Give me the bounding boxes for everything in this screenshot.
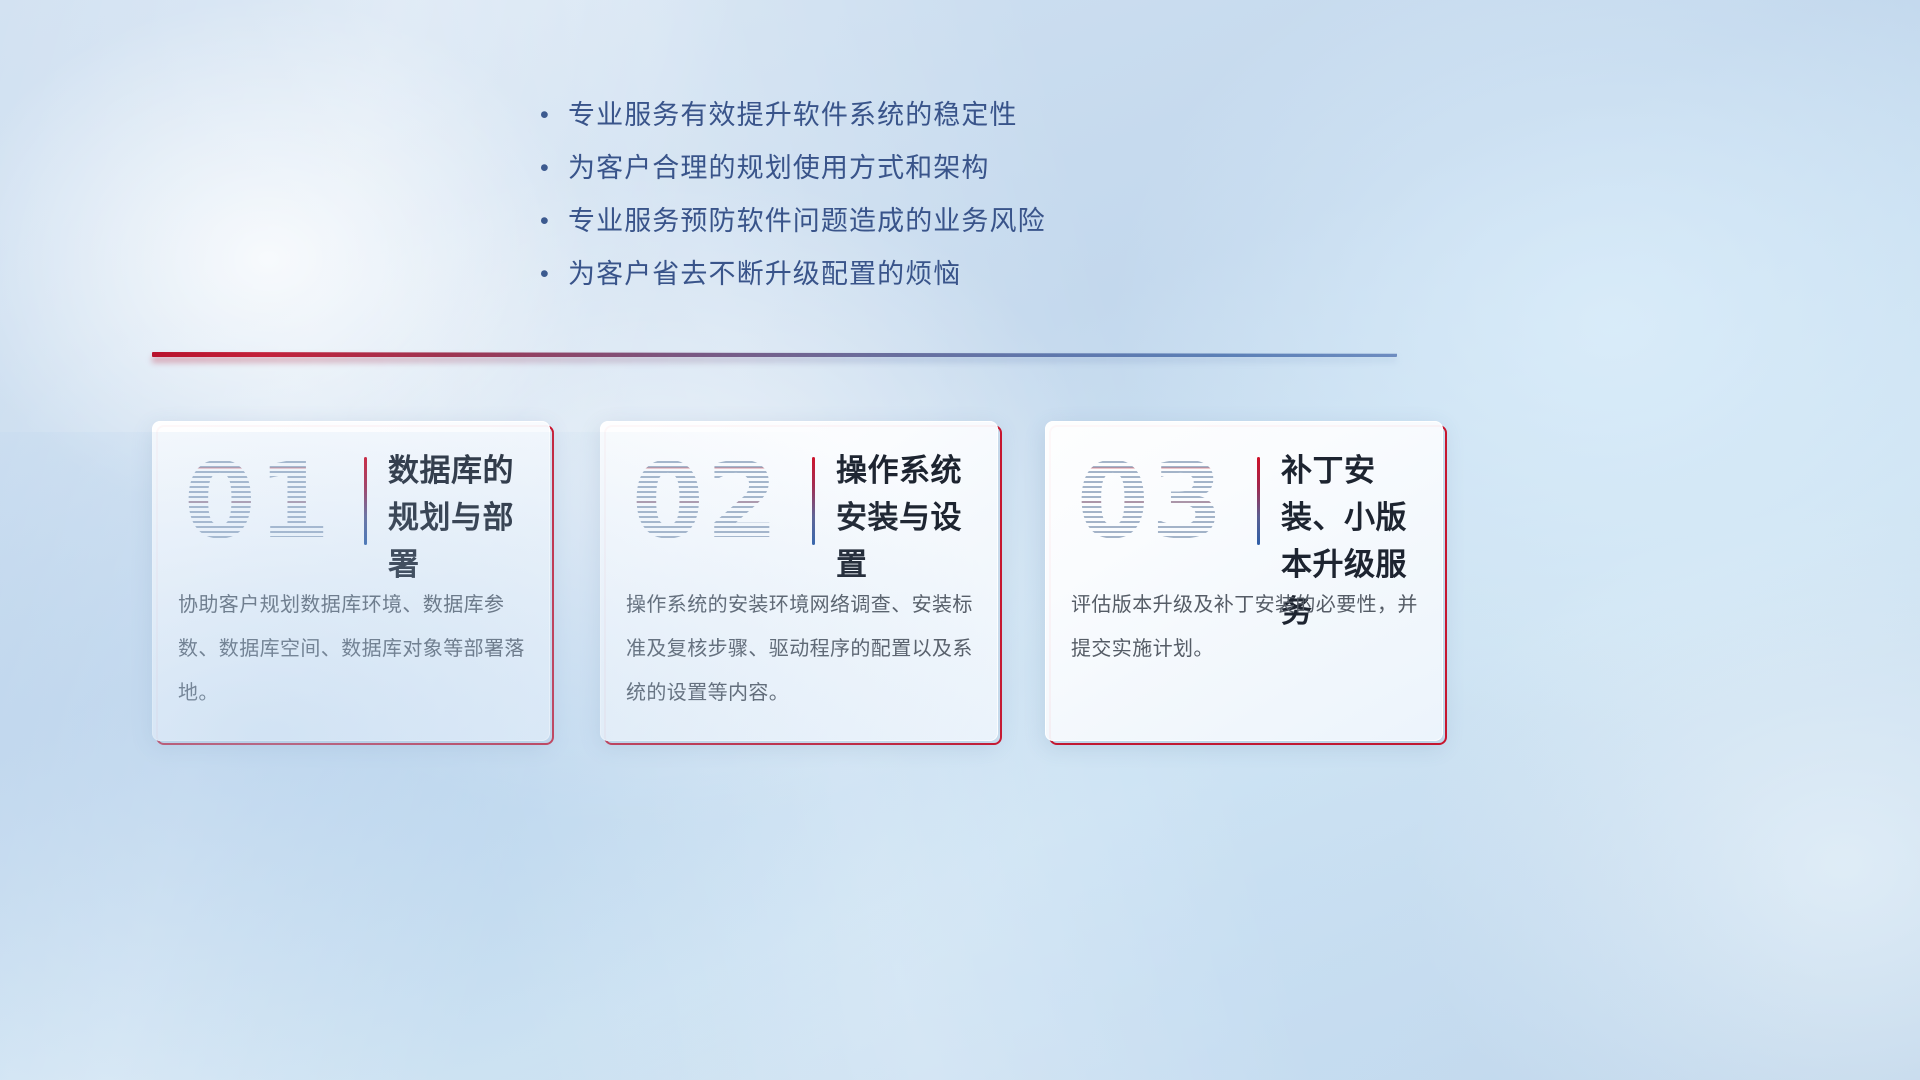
service-card-03[interactable]: 03 03 补丁安装、小版本升级服务 评估版本升级及补丁安装的必要性，并提交实施… xyxy=(1045,421,1443,741)
divider-bar xyxy=(152,352,1397,357)
bullet-dot-icon: • xyxy=(540,198,568,244)
list-item: • 专业服务预防软件问题造成的业务风险 xyxy=(540,198,1300,251)
bullet-dot-icon: • xyxy=(540,92,568,138)
bullet-dot-icon: • xyxy=(540,251,568,297)
slide-canvas: • 专业服务有效提升软件系统的稳定性 • 为客户合理的规划使用方式和架构 • 专… xyxy=(0,0,1920,1080)
card-body-text: 操作系统的安装环境网络调查、安装标准及复核步骤、驱动程序的配置以及系统的设置等内… xyxy=(626,583,976,715)
card-surface: 01 01 数据库的规划与部署 协助客户规划数据库环境、数据库参数、数据库空间、… xyxy=(152,421,550,741)
card-number-watermark: 03 xyxy=(1061,441,1241,563)
card-body-text: 协助客户规划数据库环境、数据库参数、数据库空间、数据库对象等部署落地。 xyxy=(178,583,528,715)
list-item: • 专业服务有效提升软件系统的稳定性 xyxy=(540,92,1300,145)
bullet-dot-icon: • xyxy=(540,145,568,191)
service-card-group: 01 01 数据库的规划与部署 协助客户规划数据库环境、数据库参数、数据库空间、… xyxy=(152,421,1450,741)
section-divider xyxy=(152,348,1397,362)
service-card-02[interactable]: 02 02 操作系统安装与设置 操作系统的安装环境网络调查、安装标准及复核步骤、… xyxy=(600,421,998,741)
card-header: 01 01 数据库的规划与部署 xyxy=(152,439,550,571)
bullet-text: 为客户合理的规划使用方式和架构 xyxy=(568,145,990,191)
list-item: • 为客户省去不断升级配置的烦恼 xyxy=(540,251,1300,304)
card-header: 02 02 操作系统安装与设置 xyxy=(600,439,998,571)
card-surface: 03 03 补丁安装、小版本升级服务 评估版本升级及补丁安装的必要性，并提交实施… xyxy=(1045,421,1443,741)
bullet-text: 专业服务预防软件问题造成的业务风险 xyxy=(568,198,1046,244)
card-number-watermark: 02 xyxy=(616,441,796,563)
bullet-text: 为客户省去不断升级配置的烦恼 xyxy=(568,251,961,297)
card-title: 数据库的规划与部署 xyxy=(388,447,538,588)
card-title: 操作系统安装与设置 xyxy=(836,447,986,588)
card-title-divider xyxy=(364,457,367,545)
service-card-01[interactable]: 01 01 数据库的规划与部署 协助客户规划数据库环境、数据库参数、数据库空间、… xyxy=(152,421,550,741)
card-title-divider xyxy=(1257,457,1260,545)
card-body-text: 评估版本升级及补丁安装的必要性，并提交实施计划。 xyxy=(1071,583,1421,671)
benefits-bullet-list: • 专业服务有效提升软件系统的稳定性 • 为客户合理的规划使用方式和架构 • 专… xyxy=(540,92,1300,304)
card-title-divider xyxy=(812,457,815,545)
list-item: • 为客户合理的规划使用方式和架构 xyxy=(540,145,1300,198)
card-number-watermark: 01 xyxy=(168,441,348,563)
card-surface: 02 02 操作系统安装与设置 操作系统的安装环境网络调查、安装标准及复核步骤、… xyxy=(600,421,998,741)
divider-glow xyxy=(152,356,1397,363)
card-header: 03 03 补丁安装、小版本升级服务 xyxy=(1045,439,1443,571)
bullet-text: 专业服务有效提升软件系统的稳定性 xyxy=(568,92,1018,138)
